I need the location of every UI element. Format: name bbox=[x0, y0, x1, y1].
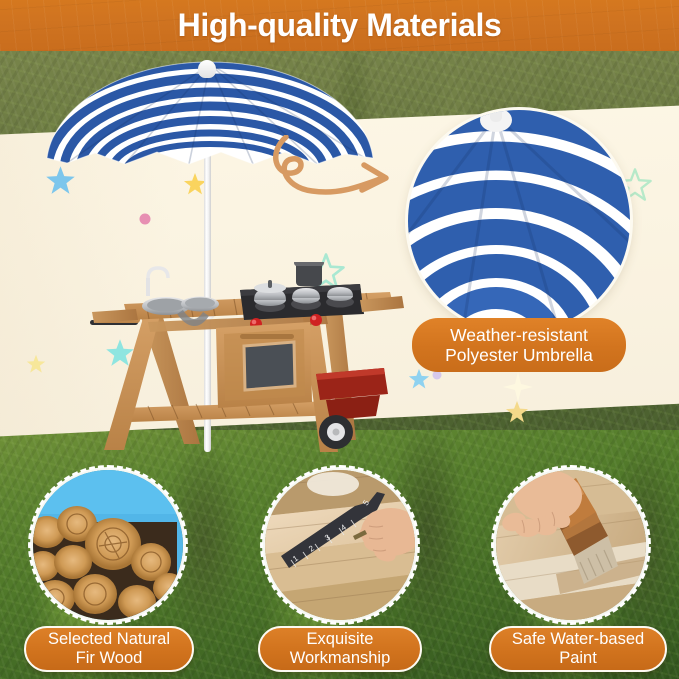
feature-image-workmanship[interactable]: 1 2 3 4 5 bbox=[265, 470, 415, 620]
feature-image-fir-wood[interactable] bbox=[33, 470, 183, 620]
feature-label-line-2: Workmanship bbox=[290, 649, 391, 668]
callout-line-2: Polyester Umbrella bbox=[445, 345, 593, 365]
callout-line-1: Weather-resistant bbox=[445, 325, 593, 345]
feature-label-line-1: Selected Natural bbox=[48, 630, 170, 649]
product-infographic: High-quality Materials bbox=[0, 0, 679, 679]
feature-label-line-1: Exquisite bbox=[290, 630, 391, 649]
feature-label-fir-wood[interactable]: Selected Natural Fir Wood bbox=[24, 626, 194, 672]
page-title: High-quality Materials bbox=[178, 7, 502, 44]
feature-label-line-2: Paint bbox=[512, 649, 644, 668]
callout-weather-resistant-umbrella[interactable]: Weather-resistant Polyester Umbrella bbox=[412, 318, 626, 372]
feature-label-line-1: Safe Water-based bbox=[512, 630, 644, 649]
mud-kitchen-product-image bbox=[88, 262, 408, 462]
feature-label-water-based-paint[interactable]: Safe Water-based Paint bbox=[489, 626, 667, 672]
hand-measuring-wood-photo: 1 2 3 4 5 bbox=[265, 470, 415, 620]
umbrella-fabric-closeup-circle bbox=[408, 110, 630, 332]
feature-label-workmanship[interactable]: Exquisite Workmanship bbox=[258, 626, 422, 672]
header-banner: High-quality Materials bbox=[0, 0, 679, 51]
umbrella-finial bbox=[198, 60, 216, 78]
hand-painting-wood-photo bbox=[496, 470, 646, 620]
feature-image-water-based-paint[interactable] bbox=[496, 470, 646, 620]
umbrella-fabric-swatch bbox=[408, 110, 630, 332]
curly-arrow-icon bbox=[272, 135, 402, 215]
feature-label-line-2: Fir Wood bbox=[48, 649, 170, 668]
stacked-logs-photo bbox=[33, 470, 183, 620]
